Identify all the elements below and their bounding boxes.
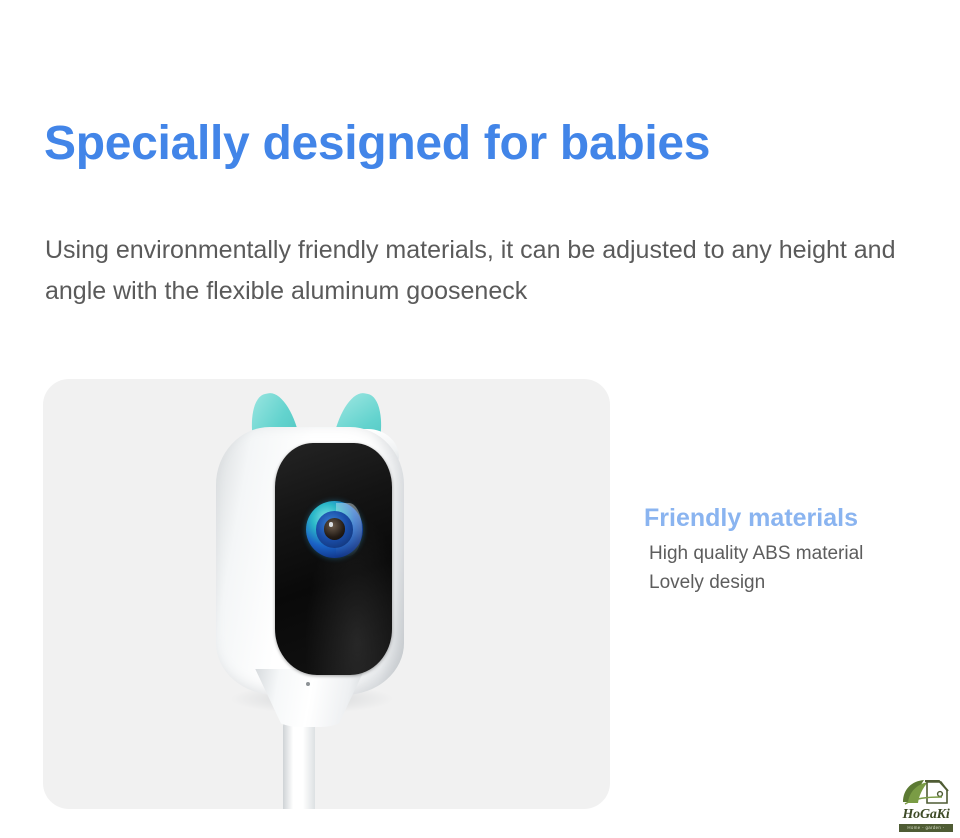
feature-block: Friendly materials High quality ABS mate… [644, 503, 944, 598]
brand-tagline: Home - garden - kitchen [899, 824, 953, 832]
product-image-card [43, 379, 610, 809]
brand-logo: HoGaKi Home - garden - kitchen [897, 777, 955, 833]
lens-pupil [324, 518, 346, 540]
brand-name: HoGaKi [897, 808, 955, 822]
camera-lens [306, 501, 363, 558]
camera-neck [253, 669, 367, 727]
gooseneck-stem [283, 721, 315, 809]
camera-faceplate [275, 443, 392, 675]
lens-glint [329, 522, 334, 527]
page-subtitle: Using environmentally friendly materials… [45, 230, 925, 311]
leaf-house-icon [897, 777, 955, 807]
feature-title: Friendly materials [644, 503, 944, 533]
camera-product-illustration [194, 385, 434, 809]
feature-line-2: Lovely design [644, 568, 944, 597]
page-title: Specially designed for babies [44, 118, 710, 171]
feature-line-1: High quality ABS material [644, 539, 944, 568]
microphone-hole [306, 682, 310, 686]
